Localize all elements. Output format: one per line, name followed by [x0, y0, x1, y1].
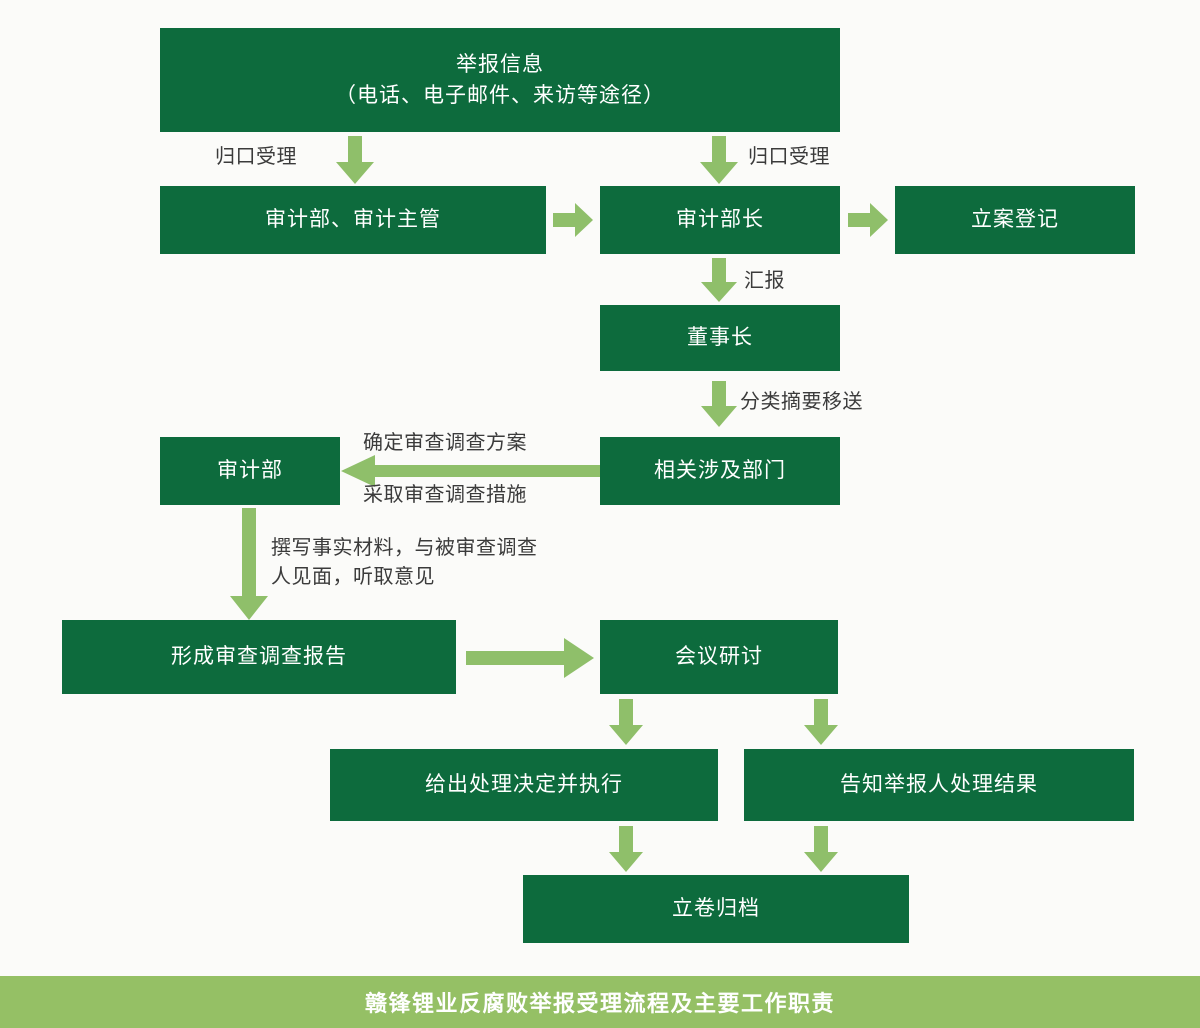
arrow-right-to-meeting	[466, 638, 594, 678]
arrow-down-classify-transfer	[701, 381, 737, 427]
edge-label-intake-left: 归口受理	[215, 143, 297, 172]
node-chairman[interactable]: 董事长	[600, 305, 840, 371]
node-audit-dept[interactable]: 审计部	[160, 437, 340, 505]
arrow-down-intake-left	[336, 136, 374, 184]
node-report-info[interactable]: 举报信息 （电话、电子邮件、来访等途径）	[160, 28, 840, 132]
node-report-info-label: 举报信息 （电话、电子邮件、来访等途径）	[335, 49, 665, 112]
node-audit-director[interactable]: 审计部长	[600, 186, 840, 254]
node-related-departments[interactable]: 相关涉及部门	[600, 437, 840, 505]
edge-label-report-up: 汇报	[744, 267, 785, 296]
node-decision-and-execute[interactable]: 给出处理决定并执行	[330, 749, 718, 821]
node-decision-and-execute-label: 给出处理决定并执行	[425, 770, 623, 800]
arrow-down-notify-to-archive	[804, 826, 838, 872]
node-case-registration[interactable]: 立案登记	[895, 186, 1135, 254]
edge-label-classify-transfer: 分类摘要移送	[740, 388, 863, 417]
node-audit-director-label: 审计部长	[676, 205, 764, 235]
node-meeting-discussion-label: 会议研讨	[675, 642, 763, 672]
edge-label-take-measures: 采取审查调查措施	[363, 481, 527, 510]
flowchart-canvas: 举报信息 （电话、电子邮件、来访等途径） 审计部、审计主管 审计部长 立案登记 …	[0, 0, 1200, 1028]
edge-label-intake-right: 归口受理	[748, 143, 830, 172]
node-audit-dept-label: 审计部	[217, 456, 283, 486]
arrow-down-decision-to-archive	[609, 826, 643, 872]
arrow-right-to-case-registration	[848, 203, 888, 237]
node-audit-dept-supervisor[interactable]: 审计部、审计主管	[160, 186, 546, 254]
node-meeting-discussion[interactable]: 会议研讨	[600, 620, 838, 694]
node-form-investigation-report[interactable]: 形成审查调查报告	[62, 620, 456, 694]
node-notify-reporter-label: 告知举报人处理结果	[840, 770, 1038, 800]
node-case-registration-label: 立案登记	[971, 205, 1059, 235]
node-notify-reporter[interactable]: 告知举报人处理结果	[744, 749, 1134, 821]
node-file-archive[interactable]: 立卷归档	[523, 875, 909, 943]
arrow-down-to-decision	[609, 699, 643, 745]
node-related-departments-label: 相关涉及部门	[654, 456, 786, 486]
arrow-down-write-materials	[230, 508, 268, 620]
arrow-right-to-audit-director	[553, 203, 593, 237]
arrow-down-intake-right	[700, 136, 738, 184]
node-chairman-label: 董事长	[687, 323, 753, 353]
footer-bar: 赣锋锂业反腐败举报受理流程及主要工作职责	[0, 976, 1200, 1028]
edge-label-write-materials: 撰写事实材料，与被审查调查 人见面，听取意见	[271, 534, 671, 592]
node-form-investigation-report-label: 形成审查调查报告	[171, 642, 347, 672]
arrow-down-to-notify	[804, 699, 838, 745]
arrow-down-report-to-chairman	[701, 258, 737, 302]
node-file-archive-label: 立卷归档	[672, 894, 760, 924]
edge-label-determine-plan: 确定审查调查方案	[363, 429, 527, 458]
node-audit-dept-supervisor-label: 审计部、审计主管	[265, 205, 441, 235]
footer-title: 赣锋锂业反腐败举报受理流程及主要工作职责	[365, 986, 835, 1018]
